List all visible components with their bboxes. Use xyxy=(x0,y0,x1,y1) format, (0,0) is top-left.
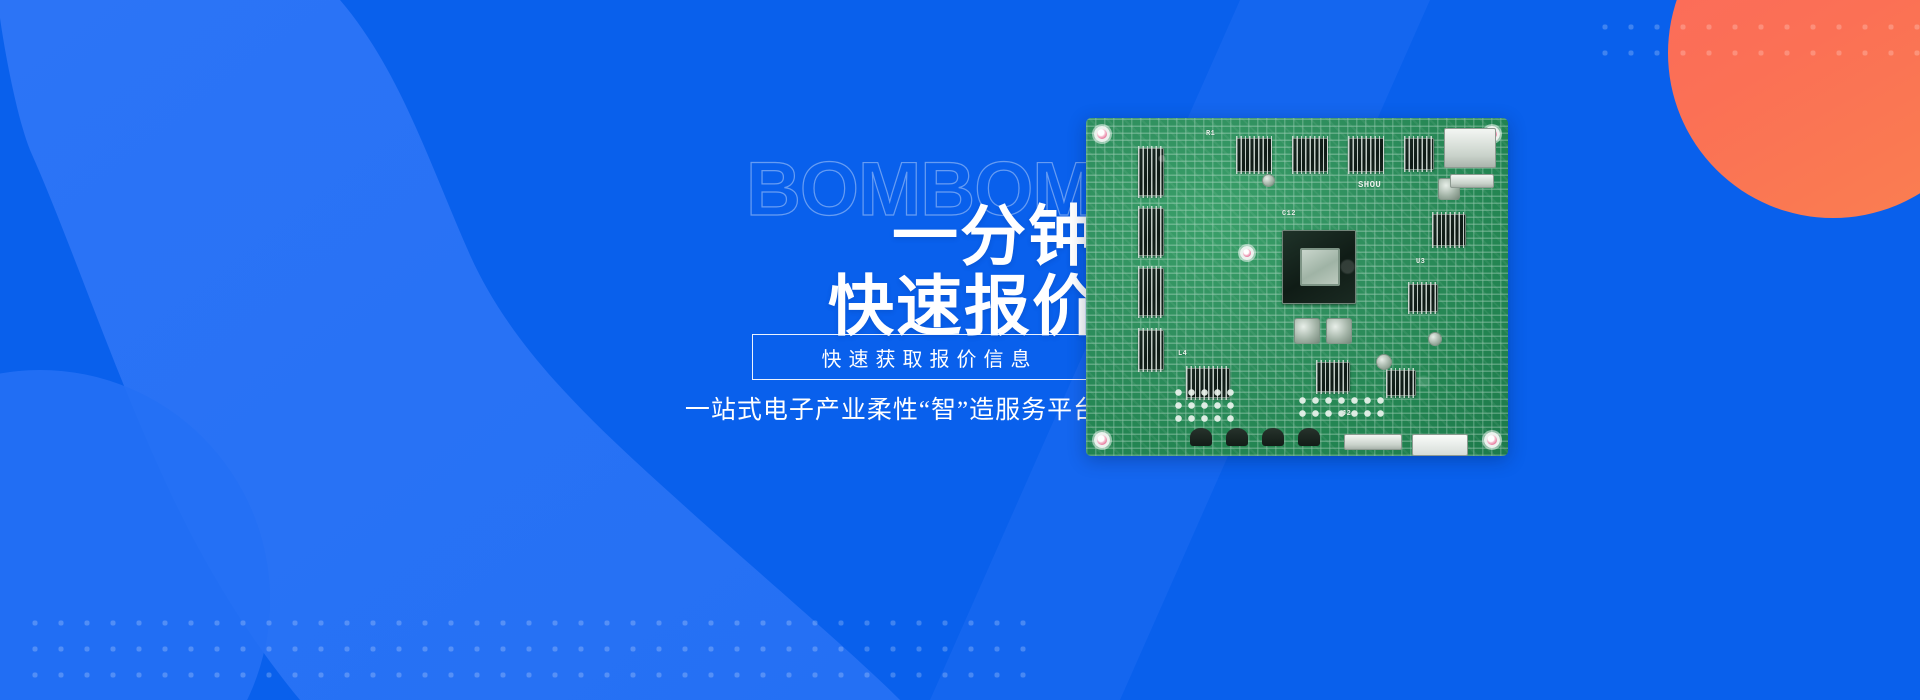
pcb-via-array-2 xyxy=(1296,394,1388,418)
cta-button[interactable]: 快速获取报价信息 xyxy=(752,334,1100,380)
pcb-chip-memory-4 xyxy=(1138,330,1164,370)
pcb-inductor-2 xyxy=(1326,318,1352,344)
pcb-jack-2 xyxy=(1226,428,1248,446)
pcb-silkscreen-label-c12: C12 xyxy=(1282,210,1296,218)
pcb-main-processor xyxy=(1282,230,1356,304)
headline-line-1: 一分钟 xyxy=(750,202,1100,272)
pcb-chip-right-2 xyxy=(1408,284,1438,312)
pcb-circuit-board-image: SHOU R1 C12 U3 L4 J2 xyxy=(1086,118,1508,456)
banner-tagline: 一站式电子产业柔性“智”造服务平台 xyxy=(682,390,1102,426)
pcb-chip-memory-2 xyxy=(1138,208,1164,256)
pcb-via-array-1 xyxy=(1172,386,1238,424)
pcb-silkscreen-label-j2: J2 xyxy=(1342,410,1351,418)
pcb-chip-top-4 xyxy=(1404,138,1434,170)
pcb-jack-1 xyxy=(1190,428,1212,446)
pcb-silkscreen-label-l4: L4 xyxy=(1178,350,1187,358)
pcb-chip-bottom-1 xyxy=(1186,368,1230,398)
headline-group: 一分钟 快速报价 xyxy=(750,202,1100,342)
pcb-bottom-connector-usb xyxy=(1344,434,1402,450)
pcb-chip-bottom-3 xyxy=(1386,370,1416,396)
pcb-inductor-1 xyxy=(1294,318,1320,344)
banner-content: BOMBOM 一分钟 快速报价 快速获取报价信息 一站式电子产业柔性“智”造服务… xyxy=(660,150,1100,530)
dot-grid-top-right xyxy=(1592,14,1920,74)
promo-banner: BOMBOM 一分钟 快速报价 快速获取报价信息 一站式电子产业柔性“智”造服务… xyxy=(0,0,1920,700)
pcb-mounting-hole-br xyxy=(1484,432,1500,448)
pcb-mounting-hole-mid xyxy=(1240,246,1254,260)
pcb-chip-top-1 xyxy=(1236,138,1272,172)
pcb-silkscreen-label-shou: SHOU xyxy=(1358,180,1381,190)
pcb-jack-3 xyxy=(1262,428,1284,446)
pcb-capacitor-2 xyxy=(1262,174,1275,187)
pcb-mounting-hole-tr xyxy=(1484,126,1500,142)
pcb-chip-top-3 xyxy=(1348,138,1384,172)
pcb-silkscreen-label-u3: U3 xyxy=(1416,258,1425,266)
pcb-bottom-connector-header xyxy=(1412,434,1468,456)
pcb-chip-memory-1 xyxy=(1138,148,1164,196)
cta-button-label: 快速获取报价信息 xyxy=(815,343,1038,372)
pcb-substrate: SHOU R1 C12 U3 L4 J2 xyxy=(1086,118,1508,456)
pcb-connector-side xyxy=(1450,174,1494,188)
pcb-silkscreen-label-r1: R1 xyxy=(1206,130,1215,138)
pcb-mounting-hole-bl xyxy=(1094,432,1110,448)
headline-line-2: 快速报价 xyxy=(750,272,1100,342)
pcb-mounting-hole-tl xyxy=(1094,126,1110,142)
pcb-chip-bottom-2 xyxy=(1316,362,1350,392)
pcb-capacitor-3 xyxy=(1428,332,1442,346)
pcb-processor-die xyxy=(1300,248,1340,286)
dot-grid-bottom-left xyxy=(22,610,1032,690)
pcb-connector-rj45 xyxy=(1444,128,1496,168)
pcb-jack-4 xyxy=(1298,428,1320,446)
pcb-capacitor-1 xyxy=(1376,354,1392,370)
pcb-chip-right-1 xyxy=(1432,214,1466,246)
pcb-chip-top-2 xyxy=(1292,138,1328,172)
pcb-inductor-3 xyxy=(1438,178,1460,200)
pcb-chip-memory-3 xyxy=(1138,268,1164,316)
